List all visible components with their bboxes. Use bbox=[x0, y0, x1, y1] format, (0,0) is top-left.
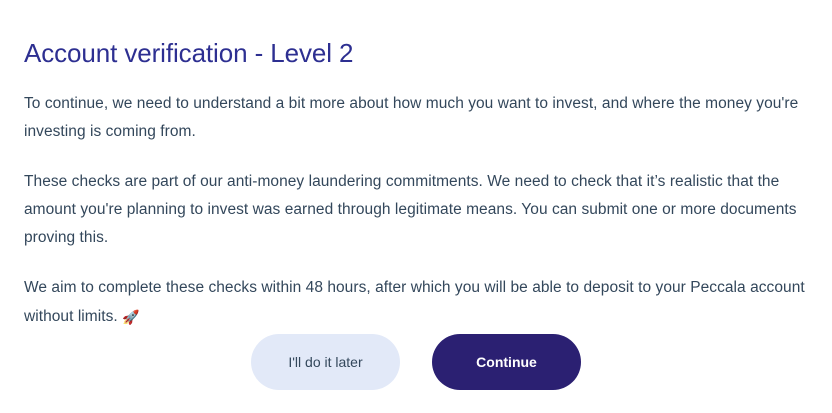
page-title: Account verification - Level 2 bbox=[24, 36, 353, 70]
verification-page: Account verification - Level 2 To contin… bbox=[0, 0, 832, 413]
aml-paragraph: These checks are part of our anti-money … bbox=[24, 168, 810, 252]
body-copy: To continue, we need to understand a bit… bbox=[24, 90, 810, 331]
do-it-later-button[interactable]: I'll do it later bbox=[251, 334, 400, 390]
timeline-paragraph: We aim to complete these checks within 4… bbox=[24, 274, 810, 331]
action-bar: I'll do it later Continue bbox=[0, 334, 832, 390]
timeline-paragraph-text: We aim to complete these checks within 4… bbox=[24, 279, 805, 325]
intro-paragraph: To continue, we need to understand a bit… bbox=[24, 90, 810, 146]
rocket-icon: 🚀 bbox=[122, 303, 139, 331]
continue-button[interactable]: Continue bbox=[432, 334, 581, 390]
